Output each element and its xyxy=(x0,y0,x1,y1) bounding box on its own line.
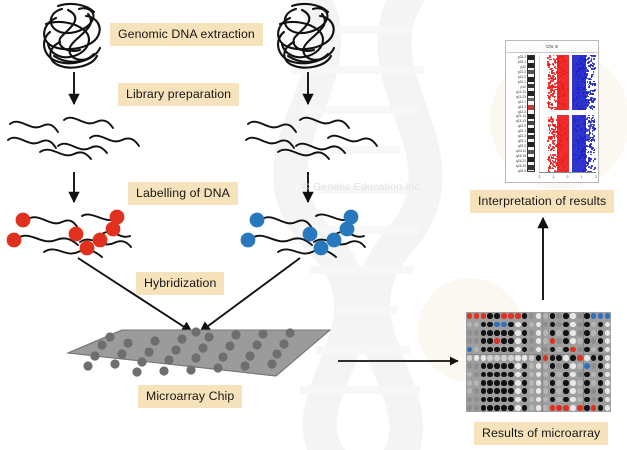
heatmap-spot xyxy=(598,322,604,328)
ideogram-point xyxy=(554,137,556,139)
ideogram-x-tick-label: 1 xyxy=(581,175,583,179)
heatmap-spot xyxy=(501,347,507,353)
heatmap-spot xyxy=(474,347,480,353)
heatmap-spot xyxy=(474,380,480,386)
heatmap-spot xyxy=(556,313,562,319)
heatmap-spot xyxy=(508,330,514,336)
heatmap-spot xyxy=(474,372,480,378)
heatmap-spot xyxy=(515,372,521,378)
ideogram-x-axis: -2-1012 xyxy=(539,172,596,182)
ideogram-band-label: q22.1 xyxy=(518,130,526,133)
label-library-preparation: Library preparation xyxy=(118,83,239,106)
heatmap-spot xyxy=(522,363,528,369)
heatmap-spot xyxy=(591,330,597,336)
heatmap-spot xyxy=(487,322,493,328)
ideogram-point xyxy=(586,145,588,147)
heatmap-spot xyxy=(605,313,611,319)
ideogram-point xyxy=(547,140,549,142)
fragmented-dna-left xyxy=(8,118,139,159)
heatmap-spot xyxy=(550,363,556,369)
ideogram-band-label: p12 xyxy=(520,86,526,89)
heatmap-spot xyxy=(563,372,569,378)
heatmap-spot xyxy=(515,330,521,336)
heatmap-spot xyxy=(522,330,528,336)
heatmap-spot xyxy=(605,380,611,386)
heatmap-spot xyxy=(481,380,487,386)
heatmap-spot xyxy=(577,355,583,361)
heatmap-spot xyxy=(508,322,514,328)
heatmap-spot xyxy=(494,372,500,378)
ideogram-point xyxy=(550,85,552,87)
heatmap-spot xyxy=(584,338,590,344)
heatmap-spot xyxy=(515,313,521,319)
heatmap-spot xyxy=(605,338,611,344)
heatmap-spot xyxy=(474,405,480,411)
heatmap-spot xyxy=(598,313,604,319)
heatmap-spot xyxy=(508,347,514,353)
heatmap-spot xyxy=(536,347,542,353)
ideogram-point xyxy=(551,121,553,123)
ideogram-point xyxy=(553,165,555,167)
heatmap-spot xyxy=(570,338,576,344)
ideogram-point xyxy=(593,160,595,162)
ideogram-point xyxy=(550,162,552,164)
heatmap-spot xyxy=(467,397,473,403)
ideogram-band-labels: p23.3p23.1p22p21.3p21.2p21.1p12q11.21q11… xyxy=(507,54,526,172)
heatmap-spot xyxy=(481,338,487,344)
ideogram-point xyxy=(591,105,593,107)
heatmap-spot xyxy=(529,355,535,361)
heatmap-spot xyxy=(467,355,473,361)
ideogram-band-label: q11.21 xyxy=(516,91,526,94)
heatmap-spot xyxy=(584,380,590,386)
heatmap-spot xyxy=(494,380,500,386)
ideogram-band-label: q24.11 xyxy=(516,150,526,153)
heatmap-spot xyxy=(605,322,611,328)
heatmap-spot xyxy=(536,397,542,403)
ideogram-point xyxy=(552,93,554,95)
copyright-watermark: © Genetic Education Inc. xyxy=(302,181,423,193)
ideogram-point xyxy=(549,55,551,56)
ideogram-band-label: q21.3 xyxy=(518,125,526,128)
heatmap-spot xyxy=(598,388,604,394)
genomic-dna-tangle-right xyxy=(278,4,334,68)
ideogram-centromere-gap xyxy=(540,110,597,115)
ideogram-point xyxy=(594,167,596,169)
heatmap-spot xyxy=(556,330,562,336)
heatmap-spot xyxy=(550,347,556,353)
heatmap-spot xyxy=(494,330,500,336)
heatmap-spot xyxy=(481,347,487,353)
ideogram-point xyxy=(593,169,595,171)
ideogram-point xyxy=(549,132,551,134)
ideogram-band-label: q13.3 xyxy=(518,111,526,114)
heatmap-spot xyxy=(529,405,535,411)
heatmap-spot xyxy=(467,338,473,344)
ideogram-point xyxy=(553,64,555,66)
ideogram-point xyxy=(551,137,553,139)
heatmap-spot xyxy=(487,355,493,361)
heatmap-spot xyxy=(481,405,487,411)
heatmap-spot xyxy=(556,322,562,328)
heatmap-spot xyxy=(529,338,535,344)
ideogram-point xyxy=(591,124,593,126)
ideogram-point xyxy=(594,141,596,143)
ideogram-point xyxy=(590,60,592,62)
heatmap-spot xyxy=(563,363,569,369)
heatmap-spot xyxy=(563,388,569,394)
ideogram-point xyxy=(554,86,556,88)
ideogram-band-label: p21.1 xyxy=(518,81,526,84)
ideogram-point xyxy=(590,143,592,145)
heatmap-spot xyxy=(550,388,556,394)
heatmap-row-separator xyxy=(466,354,611,355)
heatmap-spot xyxy=(529,347,535,353)
heatmap-spot xyxy=(494,363,500,369)
fragmented-dna-right xyxy=(246,118,377,159)
ideogram-x-tick-label: -1 xyxy=(552,175,555,179)
heatmap-spot xyxy=(570,313,576,319)
heatmap-spot xyxy=(563,380,569,386)
genomic-dna-tangle-left xyxy=(44,4,100,68)
heatmap-spot xyxy=(556,363,562,369)
heatmap-spot xyxy=(591,355,597,361)
heatmap-spot xyxy=(529,380,535,386)
heatmap-spot xyxy=(467,322,473,328)
heatmap-spot xyxy=(536,338,542,344)
heatmap-spot xyxy=(584,355,590,361)
heatmap-spot xyxy=(605,397,611,403)
heatmap-spot xyxy=(529,313,535,319)
heatmap-spot xyxy=(467,380,473,386)
heatmap-spot xyxy=(529,330,535,336)
heatmap-spot xyxy=(584,330,590,336)
heatmap-spot xyxy=(598,347,604,353)
ideogram-point xyxy=(553,55,555,56)
ideogram-point xyxy=(591,68,593,70)
ideogram-point xyxy=(593,121,595,123)
ideogram-x-tick-label: -2 xyxy=(538,175,541,179)
heatmap-spot xyxy=(529,363,535,369)
heatmap-spot xyxy=(598,355,604,361)
ideogram-band-label: q24.23 xyxy=(516,165,526,168)
ideogram-point xyxy=(548,156,550,158)
heatmap-spot xyxy=(522,347,528,353)
ideogram-band-label: q24.3 xyxy=(518,170,526,173)
heatmap-spot xyxy=(556,347,562,353)
heatmap-spot xyxy=(529,397,535,403)
red-fluorophore-group xyxy=(7,210,125,256)
heatmap-spot xyxy=(550,322,556,328)
heatmap-spot xyxy=(563,313,569,319)
heatmap-spot xyxy=(481,388,487,394)
heatmap-spot xyxy=(550,380,556,386)
heatmap-spot xyxy=(508,388,514,394)
label-interpretation-of-results: Interpretation of results xyxy=(470,190,614,213)
heatmap-spot xyxy=(494,338,500,344)
label-labelling-of-dna: Labelling of DNA xyxy=(128,182,238,205)
ideogram-point xyxy=(589,61,591,63)
ideogram-point xyxy=(586,92,588,94)
heatmap-spot xyxy=(494,347,500,353)
heatmap-spot xyxy=(543,405,549,411)
ideogram-point xyxy=(591,149,593,151)
ideogram-band-label: q12.1 xyxy=(518,101,526,104)
ideogram-point xyxy=(548,117,550,119)
heatmap-spot xyxy=(467,388,473,394)
ideogram-band-label: p23.1 xyxy=(518,61,526,64)
ideogram-point xyxy=(548,75,550,77)
heatmap-spot xyxy=(556,388,562,394)
heatmap-spot xyxy=(529,322,535,328)
heatmap-spot xyxy=(508,405,514,411)
heatmap-spot xyxy=(563,355,569,361)
ideogram-point xyxy=(592,93,594,95)
heatmap-spot xyxy=(515,405,521,411)
heatmap-spot xyxy=(515,397,521,403)
heatmap-spot xyxy=(550,397,556,403)
ideogram-point xyxy=(548,63,550,65)
heatmap-spot xyxy=(605,372,611,378)
heatmap-spot xyxy=(570,405,576,411)
ideogram-point xyxy=(553,131,555,133)
heatmap-spot xyxy=(584,313,590,319)
heatmap-spot xyxy=(563,330,569,336)
heatmap-spot xyxy=(487,347,493,353)
heatmap-spot xyxy=(481,330,487,336)
heatmap-spot xyxy=(605,388,611,394)
heatmap-spot xyxy=(570,347,576,353)
heatmap-spot xyxy=(467,347,473,353)
heatmap-spot xyxy=(481,313,487,319)
heatmap-spot xyxy=(494,397,500,403)
label-hybridization: Hybridization xyxy=(136,272,224,295)
heatmap-spot xyxy=(577,347,583,353)
heatmap-spot xyxy=(522,397,528,403)
heatmap-spot xyxy=(543,330,549,336)
heatmap-spot xyxy=(467,313,473,319)
heatmap-spot xyxy=(494,322,500,328)
heatmap-spot xyxy=(563,405,569,411)
heatmap-spot xyxy=(570,388,576,394)
heatmap-spot xyxy=(591,347,597,353)
ideogram-point xyxy=(553,150,555,152)
ideogram-point xyxy=(589,85,591,87)
heatmap-spot xyxy=(501,330,507,336)
heatmap-spot xyxy=(501,388,507,394)
heatmap-spot xyxy=(591,313,597,319)
heatmap-spot xyxy=(536,313,542,319)
heatmap-spot xyxy=(474,313,480,319)
heatmap-spot xyxy=(536,372,542,378)
heatmap-spot xyxy=(598,330,604,336)
heatmap-spot xyxy=(591,363,597,369)
label-microarray-chip: Microarray Chip xyxy=(138,385,242,408)
heatmap-spot xyxy=(543,347,549,353)
heatmap-spot xyxy=(501,380,507,386)
ideogram-point xyxy=(589,81,591,83)
heatmap-spot xyxy=(570,380,576,386)
heatmap-spot xyxy=(563,347,569,353)
heatmap-spot xyxy=(501,338,507,344)
heatmap-spot xyxy=(584,372,590,378)
heatmap-spot xyxy=(584,322,590,328)
heatmap-spot xyxy=(522,405,528,411)
ideogram-point xyxy=(548,150,550,152)
heatmap-spot xyxy=(508,355,514,361)
heatmap-spot xyxy=(508,363,514,369)
heatmap-spot xyxy=(556,405,562,411)
heatmap-spot xyxy=(515,355,521,361)
ideogram-band xyxy=(528,170,534,172)
heatmap-spot xyxy=(474,330,480,336)
heatmap-spot xyxy=(556,338,562,344)
heatmap-spot xyxy=(591,380,597,386)
ideogram-point xyxy=(549,82,551,84)
heatmap-spot xyxy=(536,405,542,411)
heatmap-spot xyxy=(550,405,556,411)
ideogram-point xyxy=(594,158,596,160)
heatmap-spot xyxy=(591,397,597,403)
ideogram-point xyxy=(549,99,551,101)
heatmap-spot xyxy=(584,363,590,369)
ideogram-point xyxy=(593,106,595,108)
heatmap-spot xyxy=(543,313,549,319)
heatmap-spot xyxy=(474,355,480,361)
heatmap-spot xyxy=(474,322,480,328)
ideogram-point xyxy=(551,132,553,134)
heatmap-block-separator xyxy=(542,312,543,412)
heatmap-spot xyxy=(584,405,590,411)
ideogram-point xyxy=(551,103,553,105)
ideogram-point xyxy=(549,144,551,146)
heatmap-spot xyxy=(494,405,500,411)
ideogram-point xyxy=(550,138,552,140)
heatmap-spot xyxy=(605,347,611,353)
heatmap-spot xyxy=(522,372,528,378)
ideogram-x-tick-label: 2 xyxy=(595,175,597,179)
heatmap-spot xyxy=(591,388,597,394)
heatmap-spot xyxy=(536,388,542,394)
heatmap-spot xyxy=(481,322,487,328)
heatmap-spot xyxy=(494,355,500,361)
ideogram-point xyxy=(586,99,588,101)
ideogram-point xyxy=(592,100,594,102)
heatmap-spot xyxy=(522,380,528,386)
heatmap-spot xyxy=(522,355,528,361)
heatmap-spot xyxy=(494,388,500,394)
heatmap-spot xyxy=(550,338,556,344)
heatmap-spot xyxy=(591,405,597,411)
ideogram-point xyxy=(587,58,589,60)
interpretation-ideogram-chart: Chr 8 p23.3p23.1p22p21.3p21.2p21.1p12q11… xyxy=(505,40,599,183)
ideogram-point xyxy=(552,167,554,169)
heatmap-spot xyxy=(563,322,569,328)
ideogram-point xyxy=(590,167,592,169)
ideogram-point xyxy=(549,159,551,161)
heatmap-spot xyxy=(536,330,542,336)
heatmap-spot xyxy=(570,397,576,403)
heatmap-spot xyxy=(522,388,528,394)
heatmap-spot xyxy=(591,372,597,378)
ideogram-point xyxy=(593,150,595,152)
ideogram-band-label: p23.3 xyxy=(518,56,526,59)
ideogram-point xyxy=(554,83,556,85)
ideogram-point xyxy=(552,75,554,77)
ideogram-plot-area: p23.3p23.1p22p21.3p21.2p21.1p12q11.21q11… xyxy=(506,52,598,184)
heatmap-spot xyxy=(550,355,556,361)
heatmap-spot xyxy=(536,322,542,328)
heatmap-spot xyxy=(467,372,473,378)
ideogram-point xyxy=(589,78,591,80)
heatmap-spot xyxy=(550,313,556,319)
blue-fluorophore-group xyxy=(241,210,359,256)
heatmap-spot xyxy=(598,405,604,411)
heatmap-spot xyxy=(515,322,521,328)
heatmap-spot xyxy=(550,372,556,378)
ideogram-point xyxy=(594,83,596,85)
heatmap-spot xyxy=(481,397,487,403)
heatmap-spot xyxy=(577,363,583,369)
heatmap-spot xyxy=(501,355,507,361)
label-genomic-dna-extraction: Genomic DNA extraction xyxy=(110,23,263,46)
ideogram-band-label: q13.1 xyxy=(518,106,526,109)
heatmap-spot xyxy=(543,322,549,328)
heatmap-spot xyxy=(515,363,521,369)
heatmap-spot xyxy=(494,313,500,319)
ideogram-point xyxy=(593,58,595,60)
ideogram-point xyxy=(551,89,553,91)
heatmap-spot xyxy=(487,313,493,319)
ideogram-point xyxy=(587,162,589,164)
heatmap-spot xyxy=(605,330,611,336)
heatmap-spot xyxy=(577,338,583,344)
heatmap-spot xyxy=(543,363,549,369)
ideogram-point xyxy=(586,89,588,91)
diagram-canvas: Chr 8 p23.3p23.1p22p21.3p21.2p21.1p12q11… xyxy=(0,0,627,450)
heatmap-spot xyxy=(474,397,480,403)
ideogram-point xyxy=(553,92,555,94)
heatmap-spot xyxy=(508,372,514,378)
ideogram-point xyxy=(594,67,596,69)
heatmap-spot xyxy=(536,363,542,369)
ideogram-point xyxy=(593,152,595,154)
heatmap-spot xyxy=(515,380,521,386)
heatmap-spot xyxy=(577,405,583,411)
heatmap-spot xyxy=(508,313,514,319)
heatmap-spot xyxy=(487,405,493,411)
heatmap-spot xyxy=(570,355,576,361)
heatmap-spot xyxy=(522,338,528,344)
heatmap-spot xyxy=(605,363,611,369)
ideogram-point xyxy=(586,74,588,76)
heatmap-spot xyxy=(598,397,604,403)
heatmap-spot xyxy=(481,355,487,361)
heatmap-spot xyxy=(556,372,562,378)
ideogram-point xyxy=(554,124,556,126)
heatmap-spot xyxy=(577,313,583,319)
ideogram-chromosome-bar xyxy=(527,55,535,172)
heatmap-spot xyxy=(487,372,493,378)
heatmap-spot xyxy=(529,388,535,394)
microarray-chip-graphic xyxy=(68,327,330,376)
ideogram-point xyxy=(590,158,592,160)
heatmap-spot xyxy=(501,372,507,378)
heatmap-spot xyxy=(570,372,576,378)
heatmap-spot xyxy=(543,397,549,403)
heatmap-spot xyxy=(550,330,556,336)
ideogram-point xyxy=(552,142,554,144)
